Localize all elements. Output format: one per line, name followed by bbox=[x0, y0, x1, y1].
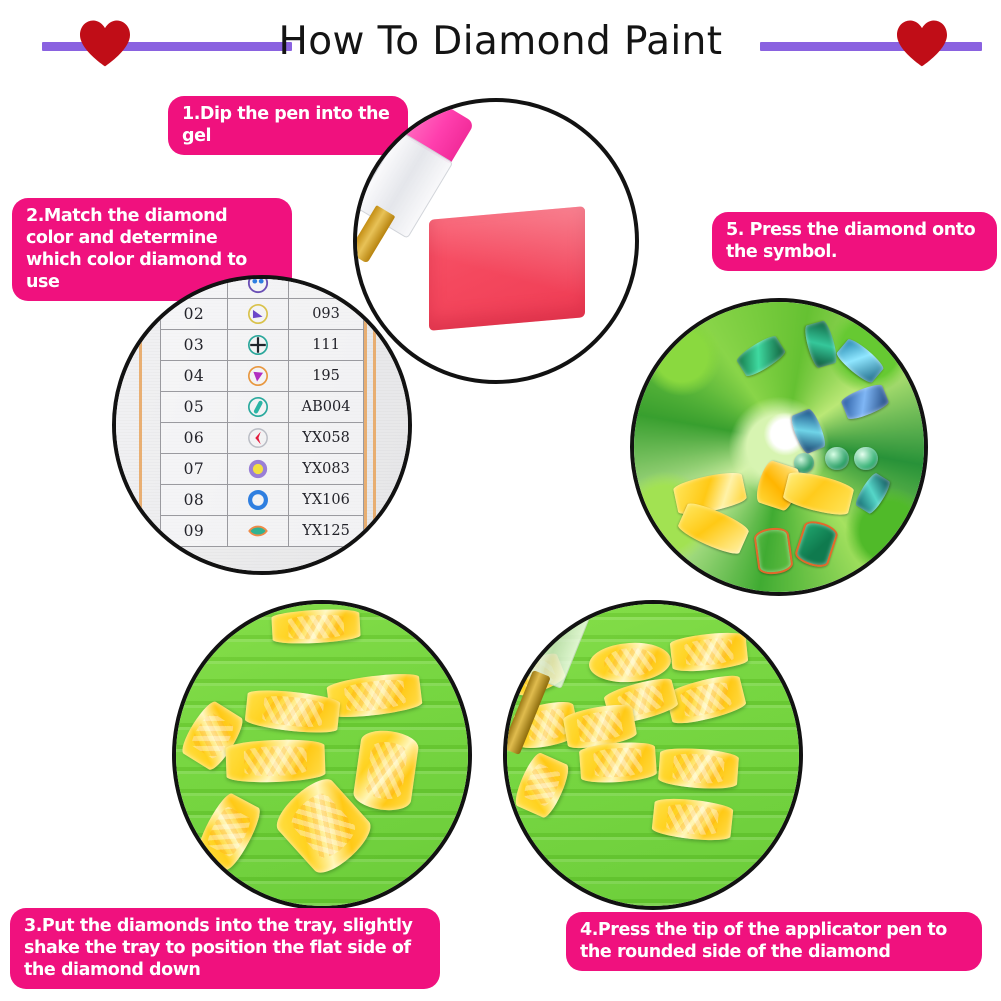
canvas-edge-stripe bbox=[373, 275, 376, 575]
legend-symbol-triangle-magenta-icon bbox=[227, 361, 288, 392]
legend-symbol-plus-cross-icon bbox=[227, 330, 288, 361]
step-2-photo: 0102002093031110419505AB00406YX05807YX08… bbox=[112, 275, 412, 575]
step-4-photo bbox=[503, 600, 803, 910]
legend-code: YX058 bbox=[288, 423, 363, 454]
step-5-label: 5. Press the diamond onto the symbol. bbox=[712, 212, 997, 271]
legend-row: 09YX125 bbox=[160, 516, 363, 547]
diamond-gem bbox=[658, 746, 739, 791]
step-3-photo bbox=[172, 600, 472, 910]
gem-round-green bbox=[825, 447, 848, 470]
step-5-photo bbox=[630, 298, 928, 596]
legend-code: 093 bbox=[288, 299, 363, 330]
legend-number: 03 bbox=[160, 330, 227, 361]
color-legend-table: 0102002093031110419505AB00406YX05807YX08… bbox=[160, 275, 364, 547]
gem-round-green bbox=[854, 447, 877, 470]
pen-tip bbox=[353, 204, 396, 262]
legend-code: AB004 bbox=[288, 392, 363, 423]
legend-number: 02 bbox=[160, 299, 227, 330]
canvas-edge-stripe bbox=[139, 275, 142, 575]
legend-number: 04 bbox=[160, 361, 227, 392]
step-4-label: 4.Press the tip of the applicator pen to… bbox=[566, 912, 982, 971]
page-title: How To Diamond Paint bbox=[0, 18, 1001, 66]
legend-code: YX106 bbox=[288, 485, 363, 516]
step-3-label: 3.Put the diamonds into the tray, slight… bbox=[10, 908, 440, 989]
legend-code: 195 bbox=[288, 361, 363, 392]
legend-row: 07YX083 bbox=[160, 454, 363, 485]
gem-green-outline bbox=[753, 526, 794, 577]
step-5-scene bbox=[634, 302, 924, 592]
legend-symbol-left-arrow-icon bbox=[227, 423, 288, 454]
legend-row: 01020 bbox=[160, 275, 363, 299]
legend-code: 111 bbox=[288, 330, 363, 361]
legend-symbol-eyes-icon bbox=[227, 275, 288, 299]
legend-number: 07 bbox=[160, 454, 227, 485]
legend-number: 05 bbox=[160, 392, 227, 423]
step-2-scene: 0102002093031110419505AB00406YX05807YX08… bbox=[116, 279, 408, 571]
legend-row: 04195 bbox=[160, 361, 363, 392]
legend-row: 08YX106 bbox=[160, 485, 363, 516]
diamond-gem bbox=[225, 738, 326, 784]
legend-row: 03111 bbox=[160, 330, 363, 361]
legend-row: 02093 bbox=[160, 299, 363, 330]
canvas-edge-stripe bbox=[364, 275, 367, 575]
gel-pad bbox=[429, 206, 585, 331]
legend-number: 01 bbox=[160, 275, 227, 299]
legend-code: YX083 bbox=[288, 454, 363, 485]
step-4-scene bbox=[507, 604, 799, 906]
legend-row: 05AB004 bbox=[160, 392, 363, 423]
diamond-gem bbox=[579, 740, 657, 784]
step-3-scene bbox=[176, 604, 468, 906]
legend-row: 06YX058 bbox=[160, 423, 363, 454]
diamond-gem bbox=[352, 727, 421, 813]
legend-number: 09 bbox=[160, 516, 227, 547]
legend-symbol-leaf-icon bbox=[227, 516, 288, 547]
legend-symbol-triangle-purple-icon bbox=[227, 299, 288, 330]
legend-symbol-diagonal-bar-icon bbox=[227, 392, 288, 423]
legend-symbol-ring-icon bbox=[227, 485, 288, 516]
legend-code: YX125 bbox=[288, 516, 363, 547]
legend-number: 06 bbox=[160, 423, 227, 454]
legend-code: 020 bbox=[288, 275, 363, 299]
legend-number: 08 bbox=[160, 485, 227, 516]
infographic-canvas: How To Diamond Paint 1.Dip the pen into … bbox=[0, 0, 1001, 1001]
legend-symbol-filled-dot-icon bbox=[227, 454, 288, 485]
